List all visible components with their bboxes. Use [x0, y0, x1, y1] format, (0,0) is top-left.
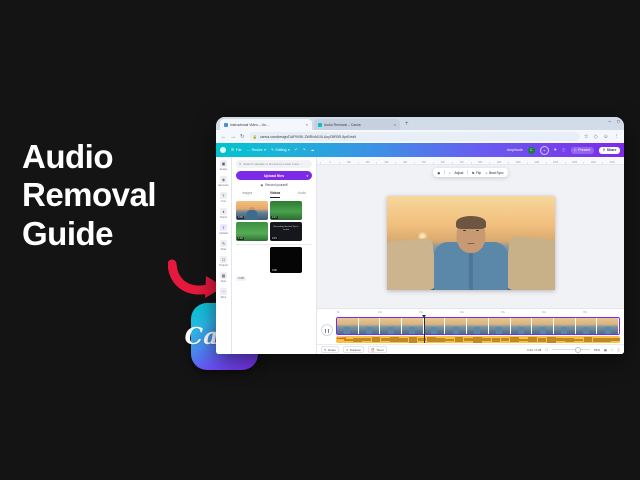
- extensions-icon[interactable]: ◇: [594, 134, 598, 140]
- elements-icon: ◈: [220, 176, 227, 183]
- menu-item-resize[interactable]: ↔ Resize ▾: [247, 148, 266, 152]
- canva-app-body: ▣ Design ◈ Elements T Text ♦ Brand ⇪ Upl…: [216, 157, 624, 354]
- ruler-tick: 500: [414, 162, 433, 164]
- pause-icon[interactable]: ❙❙: [321, 324, 333, 336]
- canva-sidebar-rail: ▣ Design ◈ Elements T Text ♦ Brand ⇪ Upl…: [216, 157, 232, 354]
- ruler-tick: 200: [358, 162, 377, 164]
- duration-button[interactable]: ⏱ Duration: [343, 346, 364, 353]
- divider: [467, 170, 468, 175]
- chevron-down-icon: ▾: [264, 148, 266, 152]
- rail-item-draw[interactable]: ✎ Draw: [216, 240, 231, 251]
- tab-audio[interactable]: Audio: [298, 191, 306, 198]
- timeline-rows: ❙❙: [317, 316, 624, 344]
- ruler-tick: 0: [320, 162, 339, 164]
- close-icon[interactable]: ×: [394, 122, 396, 127]
- title-line-3: Guide: [22, 215, 212, 253]
- help-icon[interactable]: ⓘ: [562, 148, 566, 153]
- ruler-tick: 1100: [527, 162, 546, 164]
- reload-icon[interactable]: ↻: [240, 134, 245, 140]
- browser-urlbar: ← → ↻ 🔒 canva.com/design/DAF9V5K-ZWR/oM1…: [216, 130, 624, 143]
- rail-item-projects[interactable]: ☐ Projects: [216, 256, 231, 267]
- timeline-tick: 10s: [378, 311, 419, 314]
- rail-item-apps-label: Apps: [221, 280, 226, 283]
- ruler-tick: 700: [452, 162, 471, 164]
- notes-icon: ✎: [324, 348, 327, 352]
- timer-icon: ⏰: [371, 348, 375, 352]
- close-icon[interactable]: ×: [306, 122, 308, 127]
- title-line-2: Removal: [22, 176, 212, 214]
- search-input[interactable]: ⚲ Search Uploads or browse by Local, Ins…: [236, 160, 312, 168]
- rail-item-text[interactable]: T Text: [216, 192, 231, 203]
- ruler-tick: 300: [376, 162, 395, 164]
- uploads-thumbnail-grid: 0:38 0:21 1:04 Recording finished Tap to…: [236, 201, 312, 274]
- address-bar[interactable]: 🔒 canva.com/design/DAF9V5K-ZWR/oM1XLAoyO…: [249, 132, 580, 141]
- minimize-icon[interactable]: –: [608, 118, 611, 126]
- divider: [444, 170, 445, 175]
- menu-icon[interactable]: ⋮: [614, 134, 620, 140]
- profile-icon[interactable]: ☺: [603, 134, 609, 140]
- timeline-frame: [532, 318, 554, 334]
- timeline-statusbar: ✎ Notes ⏱ Duration ⏰ Timer 0:12 / 0:38 ☐: [317, 344, 624, 354]
- timeline-frame: [597, 318, 619, 334]
- tab-videos[interactable]: Videos: [270, 191, 280, 198]
- menu-item-editing-label: Editing: [275, 148, 286, 152]
- search-placeholder: Search Uploads or browse by Local, Insta…: [243, 162, 302, 166]
- ruler-tick: 600: [433, 162, 452, 164]
- notes-label: Notes: [328, 348, 336, 352]
- timeline-tick: 30s: [542, 311, 583, 314]
- video-track[interactable]: [336, 317, 620, 335]
- boat-seat-right: [504, 235, 555, 290]
- record-yourself-label: Record yourself: [265, 183, 287, 187]
- apps-icon: ▦: [220, 272, 227, 279]
- notes-button[interactable]: ✎ Notes: [321, 346, 339, 353]
- redo-icon[interactable]: ↷: [303, 148, 306, 152]
- thumbnail-duration: 0:08: [271, 269, 278, 272]
- duration-icon: ⏱: [346, 348, 348, 352]
- adjust-label: Adjust: [455, 171, 464, 175]
- rail-item-apps[interactable]: ▦ Apps: [216, 272, 231, 283]
- upload-thumbnail[interactable]: 1:04: [236, 222, 268, 241]
- rail-item-more[interactable]: ⋯ More: [216, 288, 231, 299]
- menu-item-file-label: File: [236, 148, 242, 152]
- canva-home-icon[interactable]: [220, 147, 226, 153]
- present-button[interactable]: ▷ Present: [571, 147, 594, 154]
- camera-icon: ◉: [260, 183, 263, 187]
- duration-label: Duration: [350, 348, 361, 352]
- rail-item-more-label: More: [221, 296, 226, 299]
- menu-item-editing[interactable]: ✎ Editing ▾: [271, 148, 290, 152]
- ruler-tick: 100: [339, 162, 358, 164]
- ruler-tick: 1300: [565, 162, 584, 164]
- star-icon[interactable]: ☆: [584, 134, 589, 140]
- timeline: 5s 10s 15s 20s 25s 30s 35s ❙❙: [317, 308, 624, 354]
- browser-tab[interactable]: Audio Removal – Canva ×: [314, 119, 400, 130]
- subject-eye-right: [476, 230, 479, 232]
- add-member-button[interactable]: +: [540, 146, 549, 155]
- share-icon: ⇧: [602, 148, 605, 152]
- thumbnail-subject-body: [247, 210, 258, 220]
- record-yourself-button[interactable]: ◉ Record yourself: [236, 183, 312, 187]
- rail-item-design-label: Design: [220, 168, 227, 171]
- ruler-tick: 400: [395, 162, 414, 164]
- timeline-frame: [359, 318, 381, 334]
- boat-seat-left: [387, 237, 438, 290]
- new-tab-button[interactable]: +: [402, 119, 412, 130]
- video-stage: [317, 177, 624, 308]
- rail-item-uploads[interactable]: ⇪ Uploads: [216, 224, 231, 235]
- rail-item-projects-label: Projects: [219, 264, 228, 267]
- draw-icon: ✎: [220, 240, 227, 247]
- subject-hair: [456, 216, 486, 229]
- audio-badge: AUDIO: [337, 337, 346, 339]
- tab-title: Instructional Video – Un…: [230, 123, 269, 127]
- present-icon: ▷: [574, 148, 577, 152]
- forward-icon[interactable]: →: [231, 134, 237, 140]
- menu-item-resize-label: Resize: [252, 148, 263, 152]
- share-button[interactable]: ⇧ Share: [599, 147, 620, 154]
- flip-icon: ⇆: [472, 171, 475, 175]
- timeline-tick: 20s: [460, 311, 501, 314]
- avatar[interactable]: C: [528, 147, 535, 154]
- audio-track[interactable]: AUDIO: [336, 336, 620, 343]
- cloud-saved-icon[interactable]: ☁: [311, 148, 315, 152]
- fullscreen-icon[interactable]: ⛶: [611, 348, 613, 352]
- ruler-tick: 1400: [583, 162, 602, 164]
- upload-files-button[interactable]: Upload files ▾: [236, 171, 312, 180]
- beat-sync-label: Beat Sync: [489, 171, 504, 175]
- rail-item-uploads-label: Uploads: [219, 232, 228, 235]
- chevron-down-icon[interactable]: ▾: [306, 174, 308, 178]
- timeline-ruler: 5s 10s 15s 20s 25s 30s 35s: [317, 309, 624, 316]
- audio-waveform: [336, 336, 620, 343]
- browser-tabstrip: Instructional Video – Un… × Audio Remova…: [216, 117, 624, 130]
- file-icon: ☰: [231, 148, 234, 152]
- resize-icon: ↔: [247, 148, 251, 152]
- help-icon[interactable]: ⓘ: [617, 348, 620, 352]
- upload-files-label: Upload files: [264, 174, 284, 178]
- timeline-tick: 35s: [583, 311, 624, 314]
- search-icon: ⚲: [239, 162, 241, 166]
- upload-thumbnail[interactable]: 0:38: [236, 201, 268, 220]
- favicon: [224, 123, 228, 127]
- timeline-frame: [337, 318, 359, 334]
- rail-item-elements-label: Elements: [219, 184, 229, 187]
- address-bar-url: canva.com/design/DAF9V5K-ZWR/oM1XLAoyO5R…: [260, 135, 356, 139]
- browser-toolbar-actions: ☆ ◇ ☺ ⋮: [584, 134, 619, 140]
- more-icon: ⋯: [220, 288, 227, 295]
- ruler-tick: 1500: [602, 162, 621, 164]
- thumbnail-duration: 0:15: [271, 237, 278, 240]
- timeline-tracks: AUDIO: [336, 317, 620, 344]
- timeline-frame: [467, 318, 489, 334]
- title-line-1: Audio: [22, 138, 212, 176]
- thumbnail-text: Recording finished Tap to review: [273, 226, 299, 233]
- grid-icon[interactable]: ▦: [604, 348, 607, 352]
- tab-title: Audio Removal – Canva: [324, 123, 361, 127]
- upload-thumbnail[interactable]: 0:21: [270, 201, 302, 220]
- ruler-tick: 1000: [508, 162, 527, 164]
- rail-item-brand[interactable]: ♦ Brand: [216, 208, 231, 219]
- ruler-tick: 900: [489, 162, 508, 164]
- timeline-frame: [402, 318, 424, 334]
- duration-chip: 0:38s: [236, 276, 246, 281]
- flip-button[interactable]: ⇆ Flip: [472, 171, 481, 175]
- timer-button[interactable]: ⏰ Timer: [368, 346, 387, 353]
- rail-item-draw-label: Draw: [221, 248, 227, 251]
- timer-label: Timer: [376, 348, 384, 352]
- flip-label: Flip: [476, 171, 481, 175]
- canvas-ruler: 0 100 200 300 400 500 600 700 800 900 10…: [317, 157, 624, 165]
- present-label: Present: [578, 148, 590, 152]
- thumbnail-duration: 0:38: [237, 216, 244, 219]
- ruler-tick: 1200: [546, 162, 565, 164]
- timeline-frame: [489, 318, 511, 334]
- crop-icon[interactable]: ▣: [437, 171, 440, 175]
- pencil-icon: ✎: [271, 148, 274, 152]
- subject-eye-left: [463, 230, 466, 232]
- thumbnail-duration: 0:21: [271, 216, 278, 219]
- window-controls: – □: [608, 118, 620, 126]
- chevron-down-icon: ▾: [288, 148, 290, 152]
- canva-top-toolbar: ☰ File ↔ Resize ▾ ✎ Editing ▾ ↶ ↷ ☁ Ampl…: [216, 143, 624, 157]
- tab-images[interactable]: Images: [242, 191, 252, 198]
- browser-window: Instructional Video – Un… × Audio Remova…: [216, 117, 624, 354]
- favicon: [318, 123, 322, 127]
- playhead[interactable]: [424, 317, 425, 344]
- projects-icon: ☐: [220, 256, 227, 263]
- zoom-percent: 56%: [594, 348, 600, 352]
- timeline-frame: [554, 318, 576, 334]
- brand-icon: ♦: [220, 208, 227, 215]
- upload-thumbnail[interactable]: 0:08: [270, 247, 302, 273]
- timeline-tick: 5s: [337, 311, 378, 314]
- uploads-panel: ⚲ Search Uploads or browse by Local, Ins…: [232, 157, 317, 354]
- subject-shirt-placket: [469, 248, 473, 290]
- thumbnail-duration: 1:04: [237, 237, 244, 240]
- video-preview[interactable]: [387, 196, 555, 290]
- beat-sync-button[interactable]: ♫ Beat Sync: [485, 171, 503, 175]
- rail-item-design[interactable]: ▣ Design: [216, 160, 231, 171]
- share-label: Share: [607, 148, 617, 152]
- rail-item-elements[interactable]: ◈ Elements: [216, 176, 231, 187]
- canvas-area: 0 100 200 300 400 500 600 700 800 900 10…: [317, 157, 624, 354]
- maximize-icon[interactable]: □: [617, 118, 620, 126]
- zoom-slider-knob[interactable]: [575, 347, 581, 353]
- undo-icon[interactable]: ↶: [295, 148, 298, 152]
- upload-thumbnail[interactable]: Recording finished Tap to review 0:15: [270, 222, 302, 241]
- timeline-tick: 25s: [501, 311, 542, 314]
- lock-icon: 🔒: [253, 135, 257, 139]
- ruler-tick: 800: [471, 162, 490, 164]
- text-icon: T: [220, 192, 227, 199]
- fit-icon[interactable]: ☐: [545, 348, 548, 352]
- menu-item-file[interactable]: ☰ File: [231, 148, 242, 152]
- uploads-icon: ⇪: [220, 224, 227, 231]
- back-icon[interactable]: ←: [221, 134, 227, 140]
- timeline-frame: [424, 318, 446, 334]
- timeline-tick: 15s: [419, 311, 460, 314]
- volume-icon[interactable]: ♪: [449, 171, 451, 175]
- beat-sync-icon: ♫: [485, 171, 487, 175]
- timeline-frame: [576, 318, 598, 334]
- zoom-slider[interactable]: [552, 349, 590, 350]
- bell-icon[interactable]: ⚑: [554, 148, 557, 152]
- rail-item-text-label: Text: [221, 200, 225, 203]
- timeline-frame: [380, 318, 402, 334]
- divider: [236, 244, 312, 245]
- uploads-tabs: Images Videos Audio: [236, 190, 312, 198]
- page-title: Audio Removal Guide: [22, 138, 212, 253]
- timeline-frame: [445, 318, 467, 334]
- timecode: 0:12 / 0:38: [527, 348, 541, 352]
- timeline-frame: [511, 318, 533, 334]
- plan-label[interactable]: Amplitude: [507, 148, 523, 152]
- rail-item-brand-label: Brand: [220, 216, 226, 219]
- browser-tab[interactable]: Instructional Video – Un… ×: [220, 119, 312, 130]
- selection-toolbar: ▣ ♪ Adjust ⇆ Flip ♫ Beat Sync: [433, 168, 507, 177]
- adjust-button[interactable]: Adjust: [455, 171, 464, 175]
- design-icon: ▣: [220, 160, 227, 167]
